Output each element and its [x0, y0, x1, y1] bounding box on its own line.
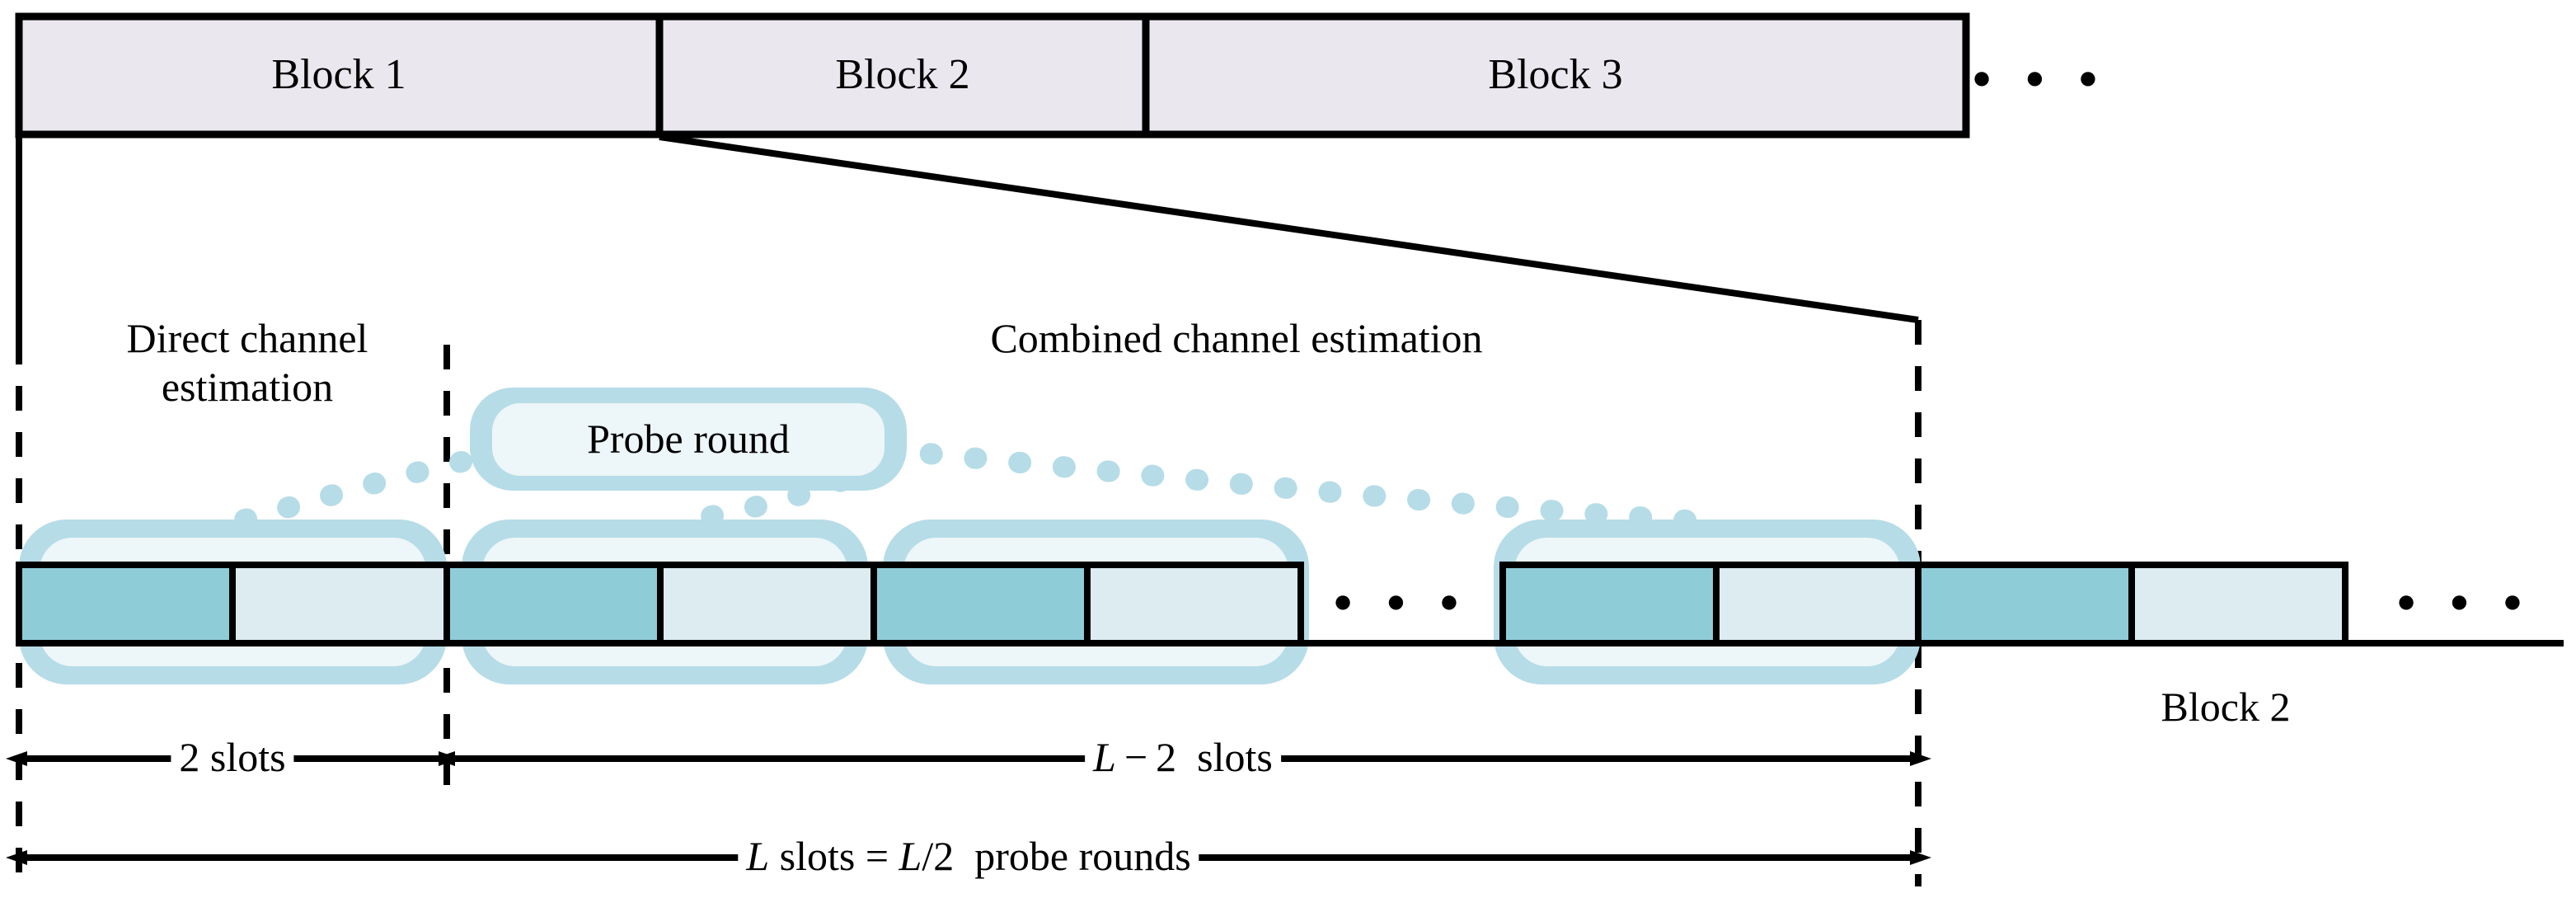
direct-estimation-line2: estimation: [127, 363, 368, 411]
zoom-leader-line: [659, 137, 1918, 320]
dimension-label-l-minus-2-slots: L − 2 slots: [1085, 734, 1281, 780]
slot-light-1: [232, 565, 447, 643]
slot-dark-2: [447, 565, 660, 643]
block-label-2: Block 2: [835, 51, 969, 99]
dimension-label-two-slots: 2 slots: [171, 734, 293, 780]
combined-estimation-label: Combined channel estimation: [990, 315, 1482, 361]
block-label-3: Block 3: [1488, 51, 1622, 99]
slot-dark-3: [874, 565, 1087, 643]
direct-estimation-line1: Direct channel: [127, 314, 368, 363]
slot-light-next-block: [2132, 565, 2345, 643]
probe-round-leaders: [239, 449, 1698, 522]
slot-dark-next-block: [1918, 565, 2132, 643]
block-bar-ellipsis: • • •: [1973, 49, 2108, 109]
probe-round-label: Probe round: [587, 416, 790, 462]
diagram-canvas: Block 1 Block 2 Block 3 • • • Direct cha…: [0, 0, 2576, 898]
slot-light-4: [1716, 565, 1918, 643]
diagram-vector-layer: [0, 0, 2576, 898]
slot-row-tail-ellipsis: • • •: [2397, 573, 2532, 632]
slot-dark-1: [19, 565, 232, 643]
slot-light-2: [660, 565, 874, 643]
next-block-label: Block 2: [2161, 684, 2291, 730]
slot-row-ellipsis: • • •: [1334, 573, 1469, 632]
probe-leader-to-capsule-last: [886, 449, 1698, 521]
block-label-1: Block 1: [271, 51, 406, 99]
slot-row: [19, 565, 2345, 643]
probe-leader-to-capsule-1: [239, 462, 462, 521]
slot-light-3: [1087, 565, 1301, 643]
direct-estimation-label: Direct channel estimation: [127, 314, 368, 411]
dimension-label-l-slots: L slots = L/2 probe rounds: [738, 833, 1199, 879]
slot-dark-4: [1503, 565, 1716, 643]
